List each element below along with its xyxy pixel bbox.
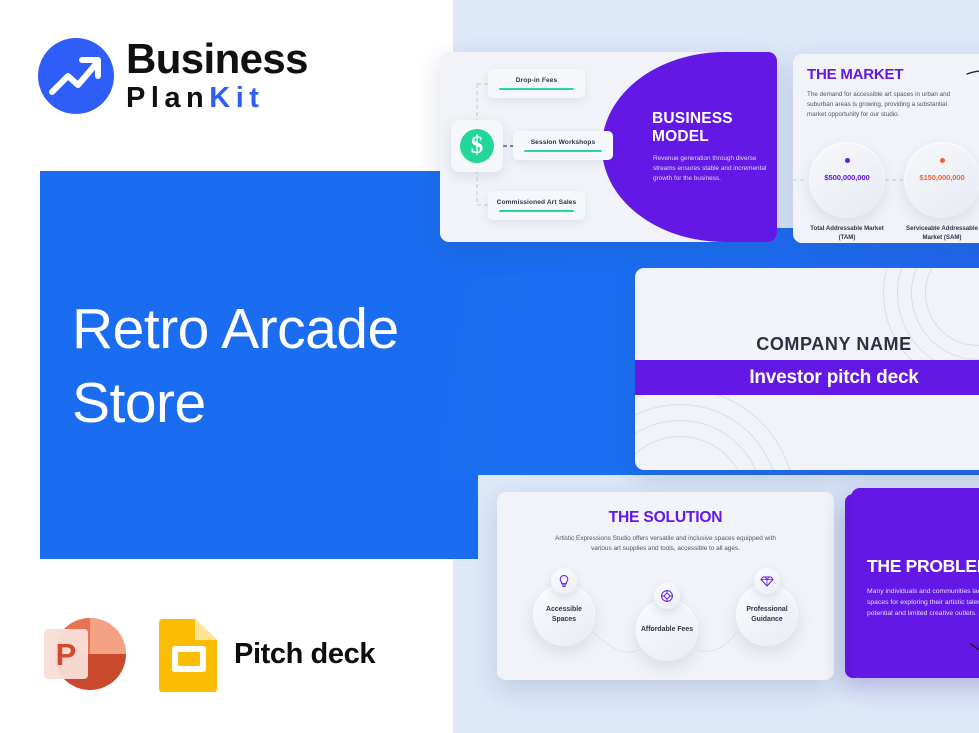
market-metric-caption: Serviceable Addressable Market (SAM) — [897, 224, 979, 242]
slide-business-model[interactable]: $ Drop-in Fees Session Workshops Commiss… — [440, 52, 777, 242]
brand-kit-text: Kit — [209, 82, 264, 114]
metric-dot — [845, 158, 850, 163]
lightbulb-icon — [551, 568, 577, 594]
metric-dot — [940, 158, 945, 163]
market-description: The demand for accessible art spaces in … — [807, 90, 963, 121]
market-metric-circle: $500,000,000 — [809, 142, 885, 218]
company-name-heading: COMPANY NAME — [635, 334, 979, 355]
business-model-item-label: Commissioned Art Sales — [497, 199, 577, 206]
page-title: Retro Arcade Store — [72, 292, 492, 440]
brand-logo: Business PlanKit — [38, 36, 368, 120]
business-model-item-label: Drop-in Fees — [516, 77, 558, 84]
target-icon — [654, 583, 680, 609]
dollar-coin-icon: $ — [451, 120, 503, 172]
problem-title: THE PROBLEM — [867, 556, 979, 577]
curved-arrow-icon — [965, 68, 979, 108]
google-slides-icon — [158, 616, 220, 692]
svg-text:P: P — [56, 637, 77, 672]
investor-pitch-band: Investor pitch deck — [635, 360, 979, 395]
brand-line-2: PlanKit — [126, 82, 308, 114]
slide-company-name[interactable]: COMPANY NAME Investor pitch deck — [635, 268, 979, 470]
dollar-symbol: $ — [460, 129, 494, 163]
solution-title: THE SOLUTION — [497, 509, 834, 527]
business-model-item[interactable]: Commissioned Art Sales — [488, 191, 585, 220]
business-model-item-label: Session Workshops — [531, 139, 596, 146]
slide-the-solution[interactable]: THE SOLUTION Artistic Expressions Studio… — [497, 492, 834, 680]
diamond-icon — [754, 568, 780, 594]
problem-description: Many individuals and communities lack ac… — [867, 586, 979, 620]
growth-arrow-circle-icon — [38, 38, 114, 114]
solution-pillar-label: Affordable Fees — [641, 625, 693, 635]
pitch-deck-label: Pitch deck — [234, 638, 375, 671]
solution-pillar-label: Accessible Spaces — [533, 605, 595, 624]
market-metric-caption: Total Addressable Market (TAM) — [802, 224, 892, 242]
market-metric-value: $500,000,000 — [809, 173, 885, 182]
slide-the-market[interactable]: THE MARKET The demand for accessible art… — [793, 54, 979, 243]
poster-canvas: Business PlanKit Retro Arcade Store P — [0, 0, 979, 733]
brand-plan-text: Plan — [126, 82, 209, 114]
slide-the-problem[interactable]: THE PROBLEM Many individuals and communi… — [851, 488, 979, 678]
powerpoint-icon: P — [38, 613, 126, 695]
business-model-description: Revenue generation through diverse strea… — [653, 154, 773, 184]
underline-accent — [524, 150, 602, 152]
underline-accent — [499, 88, 575, 90]
investor-pitch-subtitle: Investor pitch deck — [749, 367, 918, 389]
brand-line-1: Business — [126, 36, 308, 82]
solution-description: Artistic Expressions Studio offers versa… — [546, 534, 786, 555]
underline-accent — [499, 210, 575, 212]
market-metric-circle: $150,000,000 — [904, 142, 979, 218]
market-metric-value: $150,000,000 — [904, 173, 979, 182]
business-model-item[interactable]: Session Workshops — [513, 131, 613, 160]
business-model-title: BUSINESS MODEL — [652, 110, 777, 146]
business-model-item[interactable]: Drop-in Fees — [488, 69, 585, 98]
solution-pillar-label: Professional Guidance — [736, 605, 798, 624]
problem-curved-arrow-icon — [969, 636, 979, 670]
decorative-rings-bottom — [635, 388, 795, 470]
market-title: THE MARKET — [807, 66, 903, 83]
